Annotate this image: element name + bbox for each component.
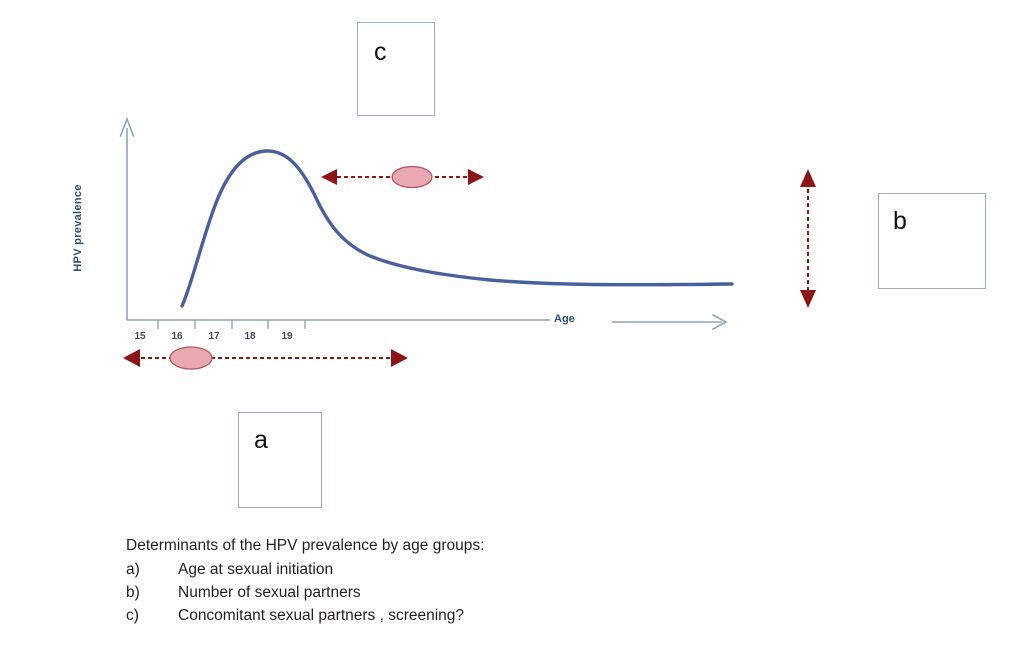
caption-item-a: a) Age at sexual initiation (126, 558, 826, 581)
x-axis-title: Age (554, 314, 575, 325)
annotation-a-left-arrowhead-icon (123, 349, 140, 367)
caption-heading: Determinants of the HPV prevalence by ag… (126, 534, 826, 557)
caption-marker-c: c) (126, 604, 178, 627)
caption-item-c: c) Concomitant sexual partners , screeni… (126, 604, 826, 627)
callout-box-a (238, 412, 322, 508)
figure-root: HPV prevalence Age 15 16 17 18 19 c b a … (0, 0, 1009, 649)
callout-box-c (357, 22, 435, 116)
annotation-arrow-c (321, 167, 484, 188)
annotation-a-marker-ellipse (170, 347, 212, 369)
annotation-arrow-b (800, 169, 816, 308)
x-tick-label-16: 16 (165, 332, 189, 342)
caption-text-a: Age at sexual initiation (178, 558, 333, 581)
annotation-c-left-arrowhead-icon (321, 169, 337, 185)
x-tick-label-19: 19 (275, 332, 299, 342)
caption-text-c: Concomitant sexual partners , screening? (178, 604, 464, 627)
caption-text-b: Number of sexual partners (178, 581, 361, 604)
caption-block: Determinants of the HPV prevalence by ag… (126, 534, 826, 627)
chart-axes (121, 119, 727, 329)
annotation-a-right-arrowhead-icon (391, 349, 408, 367)
caption-list: a) Age at sexual initiation b) Number of… (126, 558, 826, 627)
annotation-b-top-arrowhead-icon (800, 169, 816, 187)
hpv-prevalence-curve (182, 151, 732, 306)
annotation-arrow-a (123, 347, 408, 369)
annotation-c-marker-ellipse (392, 167, 432, 188)
annotation-c-right-arrowhead-icon (468, 169, 484, 185)
y-axis-title: HPV prevalence (72, 168, 84, 288)
x-tick-label-18: 18 (238, 332, 262, 342)
x-tick-label-15: 15 (128, 332, 152, 342)
x-axis-ticks (158, 320, 305, 329)
callout-label-a: a (254, 428, 268, 453)
caption-marker-a: a) (126, 558, 178, 581)
x-tick-label-17: 17 (202, 332, 226, 342)
annotation-b-bottom-arrowhead-icon (800, 290, 816, 308)
caption-item-b: b) Number of sexual partners (126, 581, 826, 604)
callout-label-b: b (893, 209, 907, 234)
caption-marker-b: b) (126, 581, 178, 604)
callout-label-c: c (374, 40, 387, 65)
